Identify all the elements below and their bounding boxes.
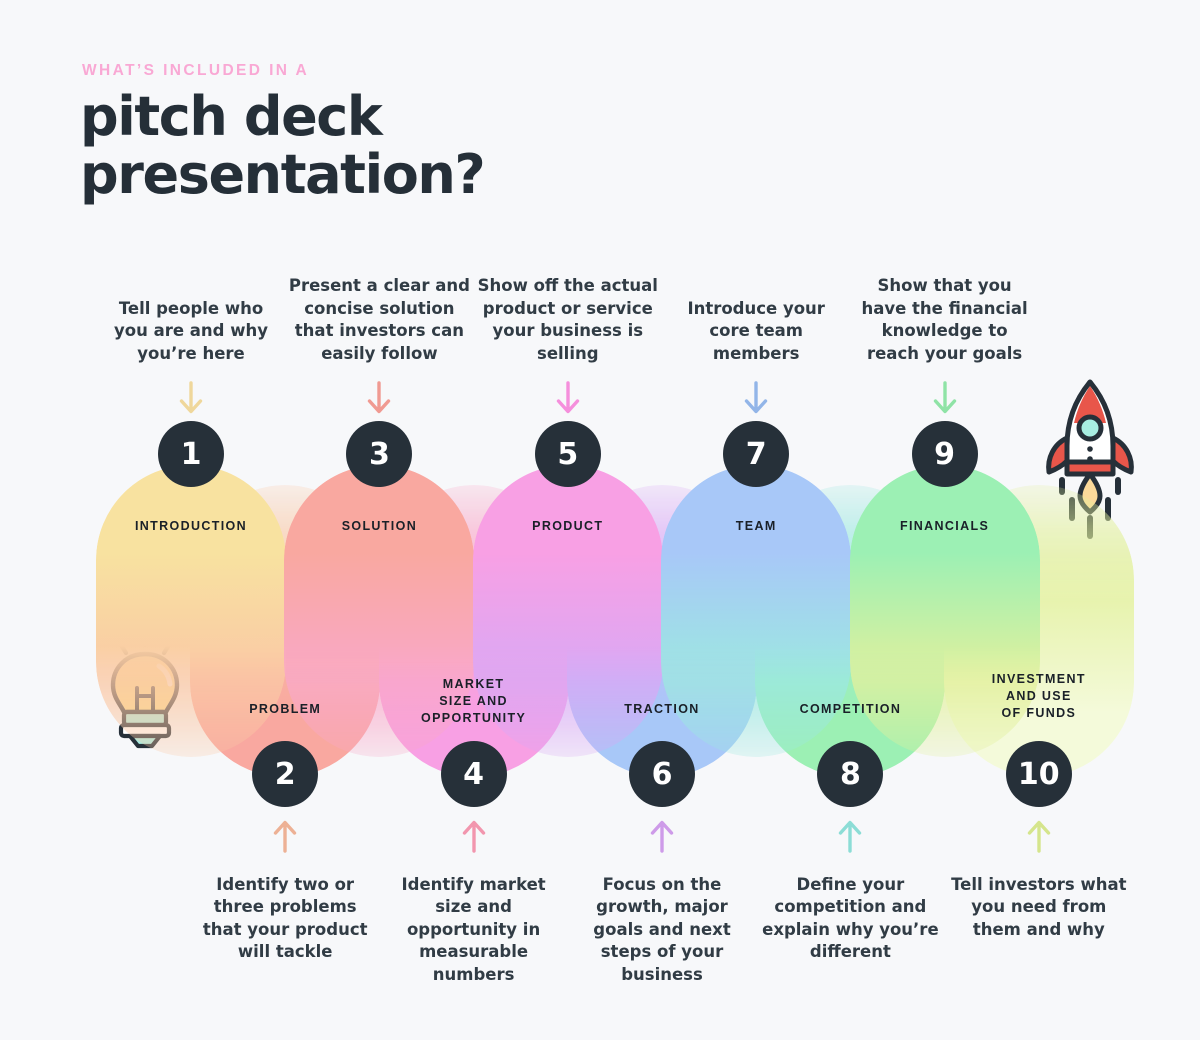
step-description-10: Tell investors what you need from them a… — [948, 874, 1130, 941]
step-label-1: INTRODUCTION — [96, 518, 286, 535]
arrow-up-icon — [649, 817, 675, 862]
step-number-7[interactable]: 7 — [723, 421, 789, 487]
step-label-8: COMPETITION — [755, 701, 945, 718]
step-description-7: Introduce your core team members — [665, 240, 847, 365]
step-label-5: PRODUCT — [473, 518, 663, 535]
step-label-9: FINANCIALS — [850, 518, 1040, 535]
step-number-2[interactable]: 2 — [252, 741, 318, 807]
step-description-6: Focus on the growth, major goals and nex… — [571, 874, 753, 986]
step-description-9: Show that you have the financial knowled… — [854, 240, 1036, 365]
step-label-3: SOLUTION — [284, 518, 474, 535]
step-description-4: Identify market size and opportunity in … — [383, 874, 565, 986]
step-description-5: Show off the actual product or service y… — [477, 240, 659, 365]
step-label-10: INVESTMENT AND USE OF FUNDS — [944, 671, 1134, 722]
arrow-down-icon — [366, 377, 392, 422]
arrow-down-icon — [932, 377, 958, 422]
step-number-3[interactable]: 3 — [346, 421, 412, 487]
step-description-3: Present a clear and concise solution tha… — [288, 240, 470, 365]
step-label-6: TRACTION — [567, 701, 757, 718]
arrow-up-icon — [272, 817, 298, 862]
steps-stage: INTRODUCTION1Tell people who you are and… — [0, 0, 1200, 1040]
step-description-8: Define your competition and explain why … — [759, 874, 941, 964]
step-description-2: Identify two or three problems that your… — [194, 874, 376, 964]
step-label-2: PROBLEM — [190, 701, 380, 718]
step-number-10[interactable]: 10 — [1006, 741, 1072, 807]
step-description-1: Tell people who you are and why you’re h… — [100, 240, 282, 365]
arrow-up-icon — [837, 817, 863, 862]
step-label-7: TEAM — [661, 518, 851, 535]
step-label-4: MARKET SIZE AND OPPORTUNITY — [379, 676, 569, 727]
step-number-6[interactable]: 6 — [629, 741, 695, 807]
infographic-root: WHAT’S INCLUDED IN A pitch deck presenta… — [0, 0, 1200, 1040]
arrow-down-icon — [178, 377, 204, 422]
arrow-up-icon — [1026, 817, 1052, 862]
step-number-8[interactable]: 8 — [817, 741, 883, 807]
step-number-4[interactable]: 4 — [441, 741, 507, 807]
arrow-up-icon — [461, 817, 487, 862]
step-number-5[interactable]: 5 — [535, 421, 601, 487]
step-number-1[interactable]: 1 — [158, 421, 224, 487]
arrow-down-icon — [743, 377, 769, 422]
arrow-down-icon — [555, 377, 581, 422]
step-number-9[interactable]: 9 — [912, 421, 978, 487]
